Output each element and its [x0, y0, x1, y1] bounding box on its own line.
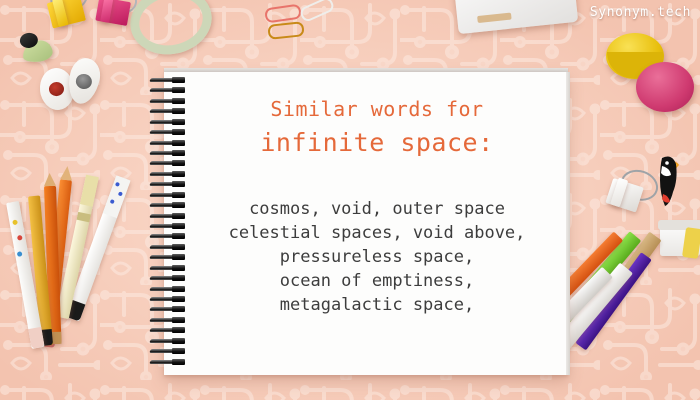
binder-clip-pink: [93, 0, 139, 41]
jar-band-yellow: [682, 227, 700, 259]
bird-eraser-green: [16, 30, 56, 67]
site-logo: Synonym.tech: [590, 5, 691, 20]
synonym-line: metagalactic space,: [186, 293, 568, 317]
macaron-pink: [636, 62, 694, 112]
page-heading-line1: Similar words for: [270, 98, 483, 120]
page-heading-line2: infinite space:: [260, 129, 493, 157]
synonym-line: celestial spaces, void above,: [186, 221, 568, 245]
synonym-line: ocean of emptiness,: [186, 269, 568, 293]
flatlay-scene: Similar words for infinite space: cosmos…: [0, 0, 700, 400]
synonym-line: cosmos, void, outer space: [186, 197, 568, 221]
synonym-line: pressureless space,: [186, 245, 568, 269]
synonym-list: cosmos, void, outer spacecelestial space…: [186, 197, 568, 317]
page-content: Similar words for infinite space: cosmos…: [186, 72, 568, 375]
